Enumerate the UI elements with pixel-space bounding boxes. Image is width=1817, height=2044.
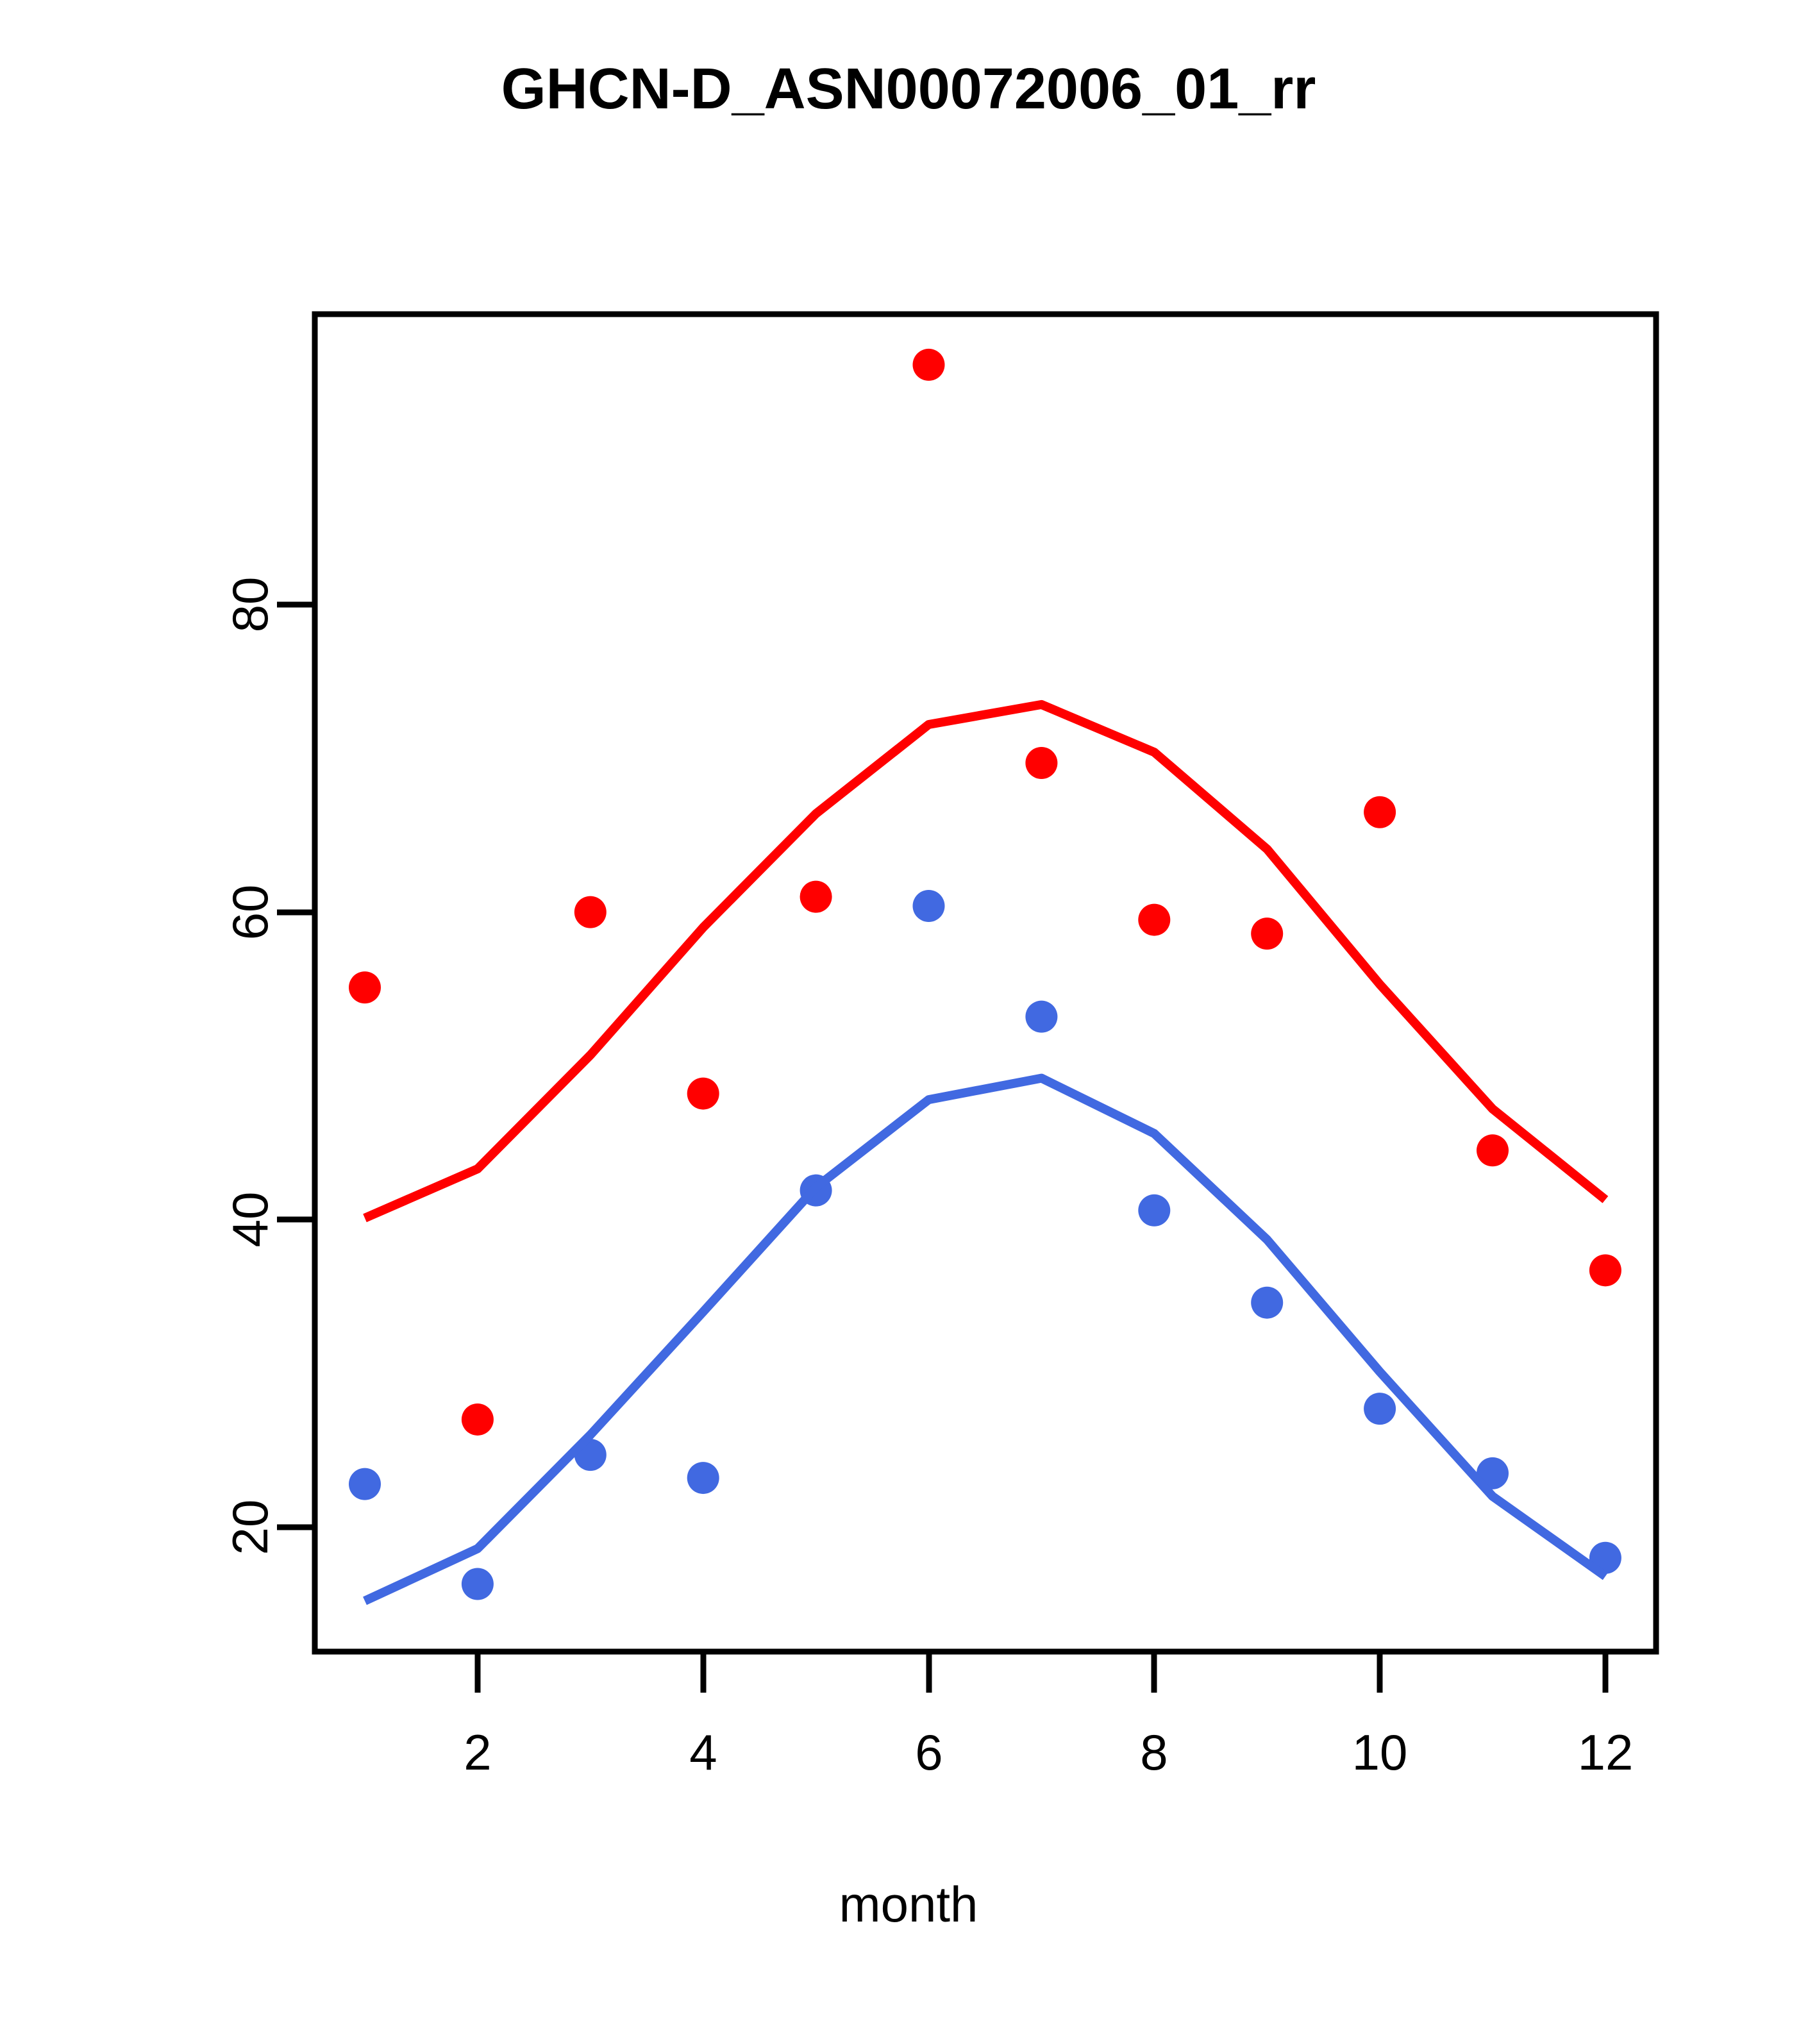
blue-line <box>365 1078 1605 1601</box>
data-point <box>913 349 945 381</box>
x-tick-label: 4 <box>689 1724 717 1780</box>
data-point <box>1251 917 1283 950</box>
data-point <box>349 1468 381 1500</box>
series-blue-points <box>349 890 1621 1600</box>
scatter-plot: 80 60 40 20 2 4 6 8 10 12 <box>0 0 1817 2044</box>
data-point <box>349 971 381 1003</box>
x-tick-label: 8 <box>1140 1724 1168 1780</box>
data-point <box>800 881 832 913</box>
y-tick-labels: 80 60 40 20 <box>222 577 278 1555</box>
data-point <box>687 1078 719 1110</box>
y-tick-label: 20 <box>222 1500 278 1555</box>
data-point <box>1251 1287 1283 1319</box>
y-axis <box>277 605 315 1527</box>
x-axis-label: month <box>0 1875 1817 1934</box>
data-point <box>462 1403 494 1436</box>
data-point <box>1364 1393 1396 1425</box>
data-point <box>1138 904 1170 936</box>
chart-page: GHCN-D_ASN00072006_01_rr 80 60 40 <box>0 0 1817 2044</box>
data-point <box>1364 796 1396 828</box>
x-tick-labels: 2 4 6 8 10 12 <box>464 1724 1633 1780</box>
data-point <box>574 896 607 928</box>
data-point <box>1025 747 1057 779</box>
red-line <box>365 705 1605 1218</box>
data-point <box>913 890 945 922</box>
x-tick-label: 12 <box>1578 1724 1634 1780</box>
y-tick-label: 80 <box>222 577 278 633</box>
x-tick-label: 2 <box>464 1724 491 1780</box>
y-tick-label: 40 <box>222 1192 278 1248</box>
data-series-layer <box>349 349 1621 1601</box>
data-point <box>1138 1194 1170 1227</box>
data-point <box>462 1568 494 1600</box>
x-tick-label: 6 <box>915 1724 942 1780</box>
series-red-points <box>349 349 1621 1436</box>
y-tick-label: 60 <box>222 885 278 941</box>
x-tick-label: 10 <box>1352 1724 1408 1780</box>
data-point <box>687 1462 719 1494</box>
series-red-line <box>365 705 1605 1218</box>
x-axis <box>478 1652 1605 1693</box>
data-point <box>1477 1134 1509 1166</box>
data-point <box>1589 1254 1621 1286</box>
series-blue-line <box>365 1078 1605 1601</box>
data-point <box>1025 1001 1057 1033</box>
